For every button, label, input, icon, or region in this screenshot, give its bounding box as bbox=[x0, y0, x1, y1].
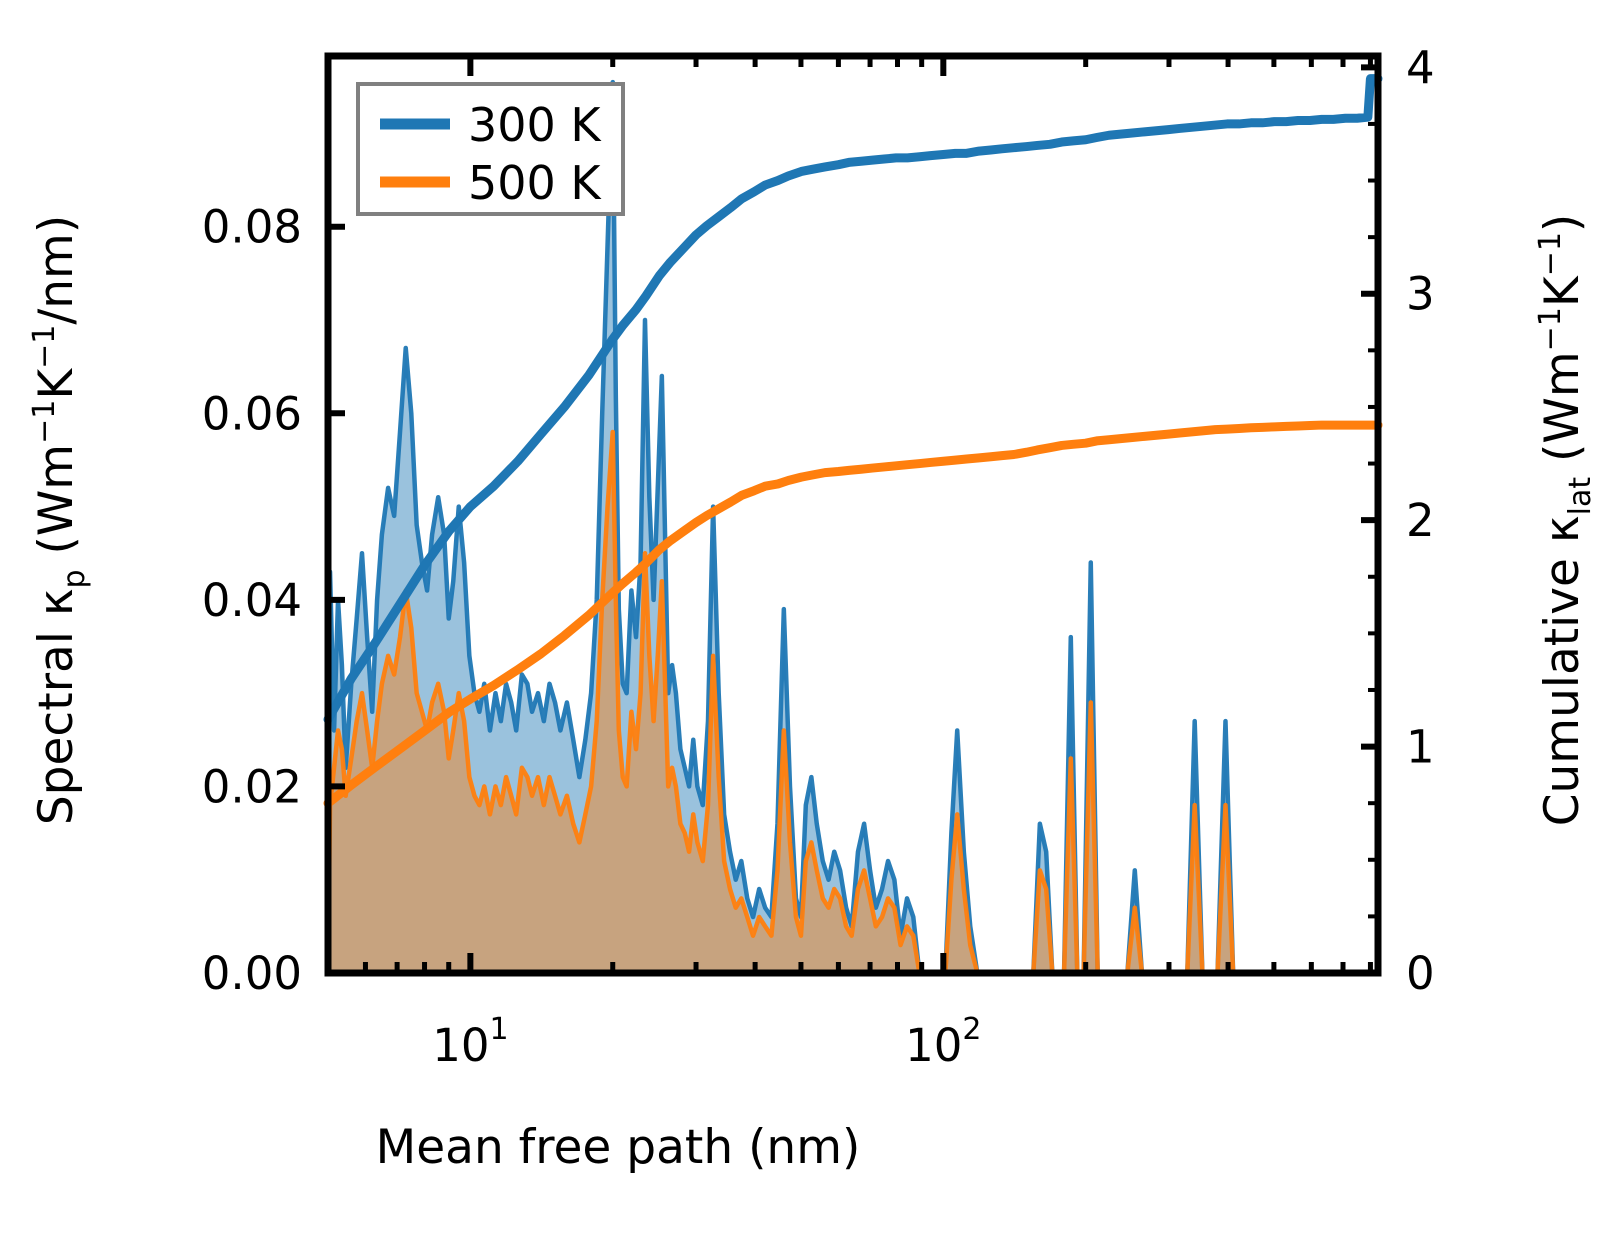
xaxis-label: Mean free path (nm) bbox=[376, 1120, 861, 1175]
y2tick-label-3: 3 bbox=[1406, 268, 1435, 321]
y2tick-label-4: 4 bbox=[1406, 41, 1435, 94]
ytick-label-1: 0.02 bbox=[202, 760, 302, 813]
ytick-label-4: 0.08 bbox=[202, 201, 302, 254]
yaxis-label-right: Cumulative κlat (Wm−1K−1) bbox=[1533, 214, 1598, 827]
ytick-label-3: 0.06 bbox=[202, 387, 302, 440]
legend-label-500k: 500 K bbox=[468, 156, 602, 210]
xtick-label-1: 102 bbox=[905, 1012, 981, 1072]
yaxis-label-left: Spectral κp (Wm−1K−1/nm) bbox=[27, 215, 92, 825]
legend-label-300k: 300 K bbox=[468, 98, 602, 152]
y2tick-label-1: 1 bbox=[1406, 721, 1435, 774]
chart-figure: 0.000.020.040.060.0801234101102Mean free… bbox=[0, 0, 1623, 1254]
ytick-label-0: 0.00 bbox=[202, 947, 302, 1000]
chart-canvas: 0.000.020.040.060.0801234101102Mean free… bbox=[0, 0, 1623, 1254]
ytick-label-2: 0.04 bbox=[202, 574, 302, 627]
y2tick-label-2: 2 bbox=[1406, 494, 1435, 547]
xtick-label-0: 101 bbox=[432, 1012, 508, 1072]
y2tick-label-0: 0 bbox=[1406, 947, 1435, 1000]
